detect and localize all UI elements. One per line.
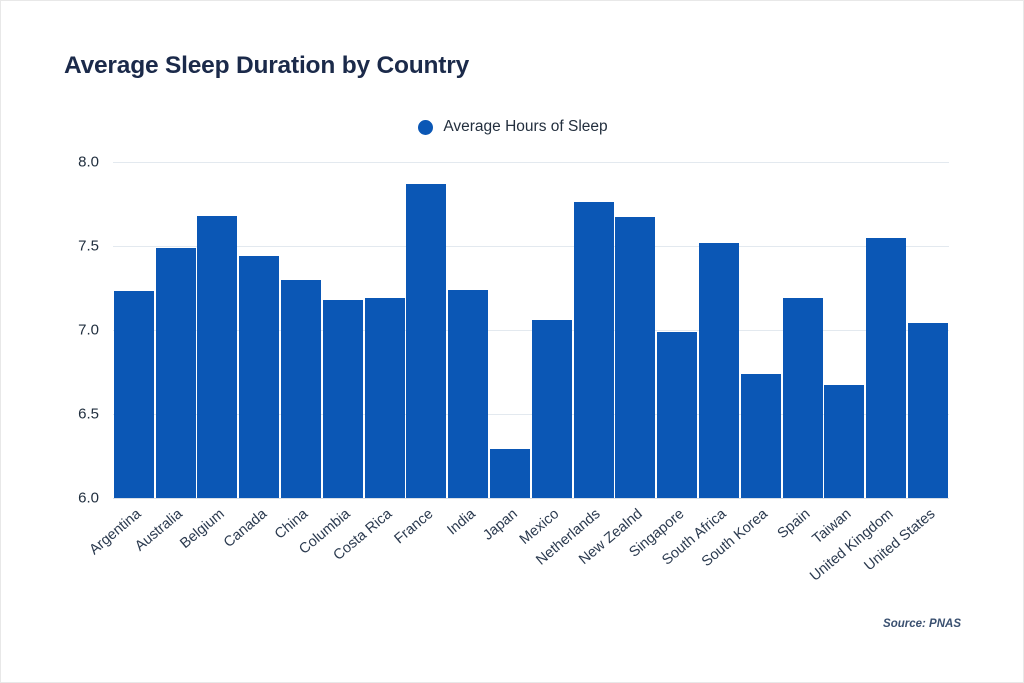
bar[interactable] [239,256,279,498]
bar[interactable] [741,374,781,498]
bar-slot [531,162,573,498]
bar[interactable] [406,184,446,498]
bar[interactable] [114,291,154,498]
x-axis-tick-label: Argentina [86,506,144,558]
bar-series [113,162,949,498]
bar-slot [698,162,740,498]
bar[interactable] [908,323,948,498]
bar-slot [740,162,782,498]
chart-figure: Average Sleep Duration by Country Averag… [0,0,1024,683]
bar-slot [280,162,322,498]
x-axis-tick-label: India [444,506,478,538]
bar[interactable] [824,385,864,498]
legend-color-swatch-icon [418,120,433,135]
x-axis-tick-label: France [392,506,437,547]
bar[interactable] [657,332,697,498]
bar[interactable] [866,238,906,498]
bar-slot [782,162,824,498]
bar-slot [865,162,907,498]
x-axis-tick-label: Spain [774,506,813,542]
y-axis-tick-label: 7.0 [78,322,99,339]
gridline: 6.0 [113,498,949,499]
bar-slot [364,162,406,498]
page-title: Average Sleep Duration by Country [64,52,469,80]
bar[interactable] [615,217,655,498]
bar[interactable] [156,248,196,498]
bar-slot [489,162,531,498]
bar-slot [155,162,197,498]
chart-legend: Average Hours of Sleep [1,118,1024,136]
bar-slot [447,162,489,498]
bar[interactable] [699,243,739,498]
x-axis-tick-label: Canada [220,506,269,551]
bar-slot [406,162,448,498]
bar[interactable] [783,298,823,498]
bar-slot [573,162,615,498]
x-axis-tick-label: Belgium [177,506,227,552]
bar[interactable] [448,290,488,498]
bar[interactable] [323,300,363,498]
bar[interactable] [281,280,321,498]
bar[interactable] [490,449,530,498]
y-axis-tick-label: 8.0 [78,154,99,171]
plot-area: 6.06.57.07.58.0 [113,162,949,498]
legend-item-label: Average Hours of Sleep [443,118,607,136]
source-attribution: Source: PNAS [883,618,961,630]
y-axis-tick-label: 7.5 [78,238,99,255]
y-axis-tick-label: 6.0 [78,490,99,507]
x-axis-tick-label: Japan [480,506,521,544]
y-axis-tick-label: 6.5 [78,406,99,423]
bar[interactable] [365,298,405,498]
bar-slot [615,162,657,498]
bar[interactable] [532,320,572,498]
bar-slot [656,162,698,498]
bar[interactable] [197,216,237,498]
bar-slot [907,162,949,498]
bar-slot [824,162,866,498]
bar-slot [238,162,280,498]
bar-slot [113,162,155,498]
bar-slot [322,162,364,498]
bar[interactable] [574,202,614,498]
bar-slot [197,162,239,498]
